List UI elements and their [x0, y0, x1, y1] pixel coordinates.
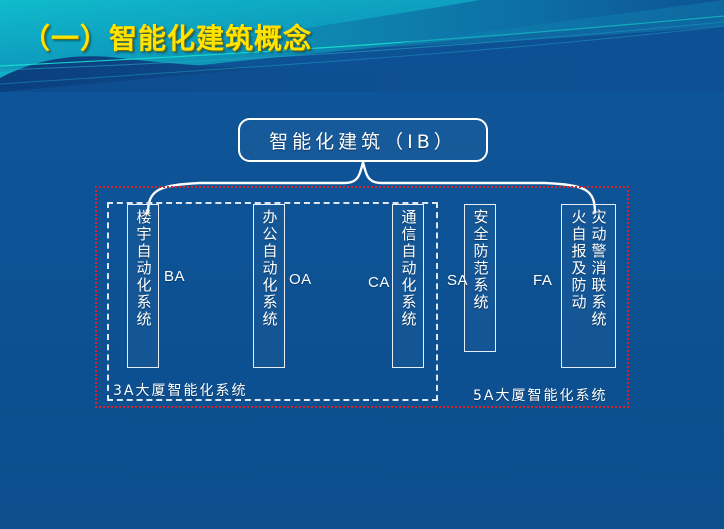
node-building-automation: 楼宇自动化系统	[127, 204, 159, 368]
group-5a-label: 5A大厦智能化系统	[473, 385, 607, 405]
group-3a-label: 3A大厦智能化系统	[113, 380, 247, 400]
node-fire-alarm-system-label-col2: 火自报及防动	[569, 209, 589, 311]
node-intelligent-building: 智能化建筑（IB）	[238, 118, 488, 162]
code-fa: FA	[533, 272, 552, 289]
node-office-automation: 办公自动化系统	[253, 204, 285, 368]
node-fire-alarm-system: 火自报及防动 灾动警消联系统	[561, 204, 616, 368]
code-ba: BA	[164, 268, 185, 285]
node-communication-automation: 通信自动化系统	[392, 204, 424, 368]
node-fire-alarm-system-label-col1: 灾动警消联系统	[589, 209, 609, 328]
node-security-system-label: 安全防范系统	[470, 209, 491, 311]
code-oa: OA	[289, 271, 312, 288]
node-security-system: 安全防范系统	[464, 204, 496, 352]
node-communication-automation-label: 通信自动化系统	[398, 209, 419, 328]
code-ca: CA	[368, 274, 390, 291]
node-office-automation-label: 办公自动化系统	[259, 209, 280, 328]
node-building-automation-label: 楼宇自动化系统	[133, 209, 154, 328]
code-sa: SA	[447, 272, 468, 289]
slide-canvas: （一）智能化建筑概念 智能化建筑（IB） 楼宇自动化系统 BA 办公自动化系统 …	[0, 0, 724, 529]
diagram-root: 智能化建筑（IB） 楼宇自动化系统 BA 办公自动化系统 OA 通信自动化系统 …	[0, 0, 724, 529]
